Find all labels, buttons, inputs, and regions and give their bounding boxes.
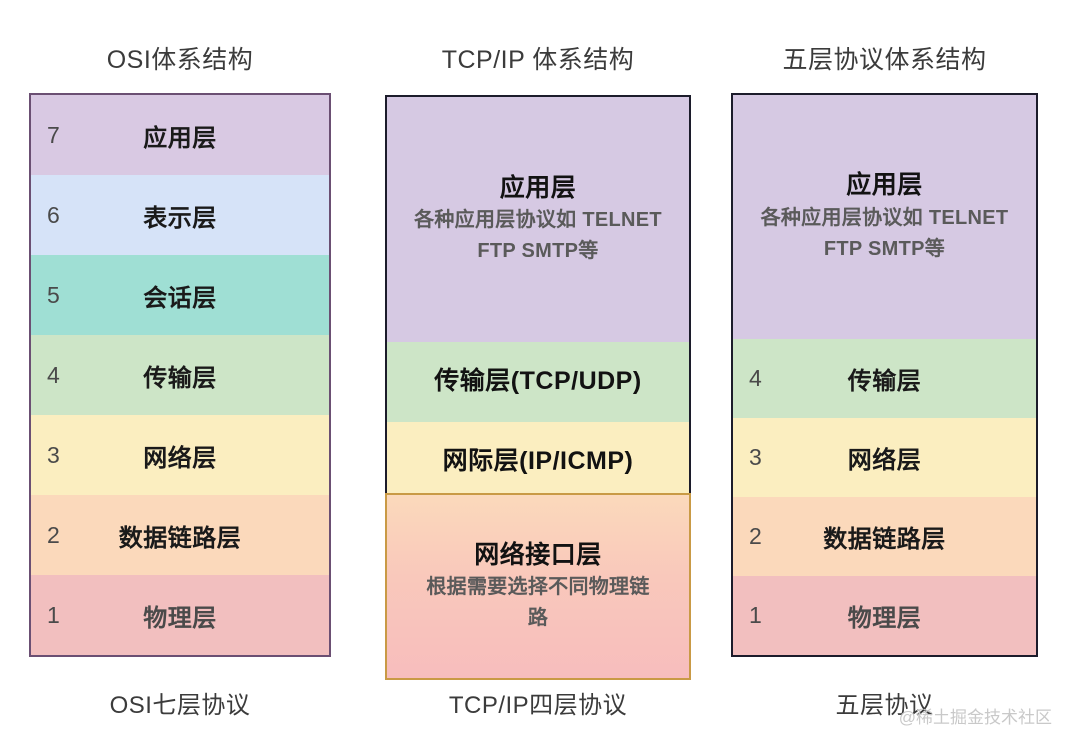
layer-description-line2: 路 — [522, 603, 554, 634]
layer-row-5[interactable]: 5 会话层 — [31, 255, 329, 335]
column-title-five-layer: 五层协议体系结构 — [731, 40, 1038, 76]
column-title-osi: OSI体系结构 — [29, 40, 331, 76]
layer-row-3[interactable]: 3 网络层 — [733, 418, 1036, 497]
layer-number: 7 — [31, 122, 83, 149]
layer-title: 应用层 — [846, 169, 923, 203]
layer-label: 网络层 — [785, 440, 1036, 475]
layer-label: 表示层 — [83, 198, 329, 233]
protocol-layers-diagram: open-source 社区 JUE open-source 技术社区 掘金 S… — [0, 0, 1066, 738]
layer-label: 会话层 — [83, 278, 329, 313]
layer-stack-osi: 7 应用层 6 表示层 5 会话层 4 传输层 3 网络层 2 数据链路层 — [29, 93, 331, 657]
layer-label: 网络层 — [83, 438, 329, 473]
layer-stack-five-layer: 应用层 各种应用层协议如 TELNET FTP SMTP等 4 传输层 3 网络… — [731, 93, 1038, 657]
layer-description-line2: FTP SMTP等 — [471, 236, 604, 267]
column-tcpip: TCP/IP 体系结构 应用层 各种应用层协议如 TELNET FTP SMTP… — [385, 30, 691, 710]
layer-number: 3 — [31, 442, 83, 469]
layer-title: 传输层(TCP/UDP) — [434, 365, 641, 399]
layer-label: 物理层 — [785, 598, 1036, 633]
layer-row-3[interactable]: 3 网络层 — [31, 415, 329, 495]
layer-block-application[interactable]: 应用层 各种应用层协议如 TELNET FTP SMTP等 — [733, 95, 1036, 339]
layer-number: 1 — [733, 602, 785, 629]
layer-number: 3 — [733, 444, 785, 471]
layer-label: 数据链路层 — [785, 519, 1036, 554]
layer-title: 网络接口层 — [474, 539, 602, 573]
layer-row-6[interactable]: 6 表示层 — [31, 175, 329, 255]
layer-block-transport[interactable]: 传输层(TCP/UDP) — [387, 342, 689, 422]
column-five-layer: 五层协议体系结构 应用层 各种应用层协议如 TELNET FTP SMTP等 4… — [731, 30, 1038, 710]
layer-title: 应用层 — [500, 172, 577, 206]
layer-description-line2: FTP SMTP等 — [818, 234, 951, 265]
layer-number: 6 — [31, 202, 83, 229]
layer-number: 1 — [31, 602, 83, 629]
layer-row-2[interactable]: 2 数据链路层 — [31, 495, 329, 575]
layer-label: 应用层 — [83, 118, 329, 153]
layer-title: 网际层(IP/ICMP) — [443, 445, 634, 479]
layer-row-1[interactable]: 1 物理层 — [31, 575, 329, 655]
layer-row-4[interactable]: 4 传输层 — [733, 339, 1036, 418]
layer-row-7[interactable]: 7 应用层 — [31, 95, 329, 175]
column-osi: OSI体系结构 7 应用层 6 表示层 5 会话层 4 传输层 3 网络层 — [29, 30, 331, 710]
layer-row-2[interactable]: 2 数据链路层 — [733, 497, 1036, 576]
layer-block-internet[interactable]: 网际层(IP/ICMP) — [387, 422, 689, 502]
layer-number: 4 — [733, 365, 785, 392]
column-caption-tcpip: TCP/IP四层协议 — [385, 685, 691, 720]
layer-number: 5 — [31, 282, 83, 309]
layer-row-4[interactable]: 4 传输层 — [31, 335, 329, 415]
site-watermark: @稀土掘金技术社区 — [899, 703, 1052, 728]
layer-label: 物理层 — [83, 598, 329, 633]
layer-label: 传输层 — [83, 358, 329, 393]
layer-number: 2 — [733, 523, 785, 550]
layer-row-1[interactable]: 1 物理层 — [733, 576, 1036, 655]
layer-block-application[interactable]: 应用层 各种应用层协议如 TELNET FTP SMTP等 — [387, 97, 689, 342]
layer-description-line1: 各种应用层协议如 TELNET — [755, 203, 1015, 234]
layer-description-line1: 各种应用层协议如 TELNET — [408, 205, 668, 236]
column-caption-osi: OSI七层协议 — [29, 685, 331, 720]
layer-number: 4 — [31, 362, 83, 389]
layer-description-line1: 根据需要选择不同物理链 — [420, 572, 655, 603]
layer-label: 传输层 — [785, 361, 1036, 396]
layer-label: 数据链路层 — [83, 518, 329, 553]
layer-block-network-interface[interactable]: 网络接口层 根据需要选择不同物理链 路 — [385, 493, 691, 680]
column-title-tcpip: TCP/IP 体系结构 — [385, 40, 691, 76]
layer-number: 2 — [31, 522, 83, 549]
